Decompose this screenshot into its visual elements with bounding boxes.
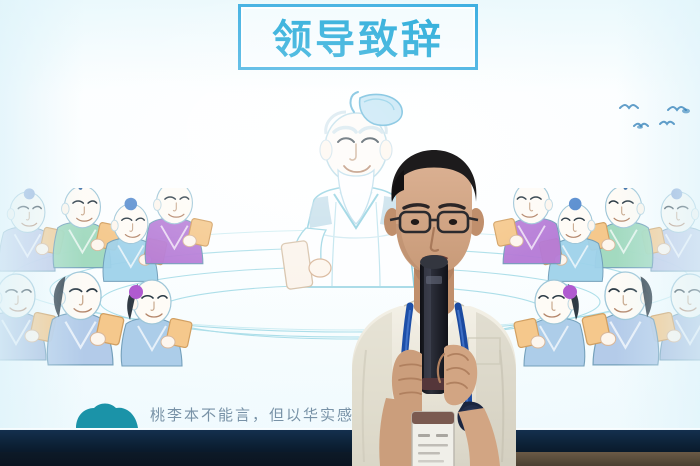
cloud-shape-icon xyxy=(74,402,144,428)
slide-title-box: 领导致辞 xyxy=(238,4,478,70)
page-title: 领导致辞 xyxy=(241,7,475,65)
man-speaking-with-microphone xyxy=(300,150,570,466)
cartoon-students-left-group-icon xyxy=(0,188,254,388)
flying-birds-icon xyxy=(576,86,696,152)
id-badge xyxy=(412,412,454,466)
presentation-scene: 领导致辞 桃李本不能言，但以华实感之。 xyxy=(0,0,700,466)
